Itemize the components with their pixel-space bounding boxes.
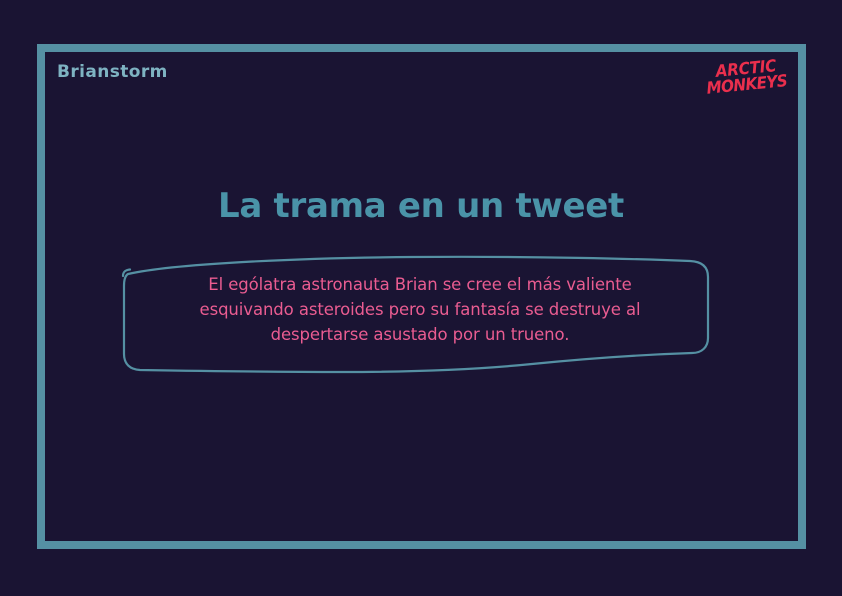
arctic-monkeys-logo: ARCTIC MONKEYS bbox=[703, 58, 789, 104]
quote-line: esquivando asteroides pero su fantasía s… bbox=[140, 297, 700, 322]
page-title: Brianstorm bbox=[57, 62, 168, 82]
quote-line: despertarse asustado por un trueno. bbox=[140, 322, 700, 347]
quote-text: El ególatra astronauta Brian se cree el … bbox=[140, 272, 700, 347]
logo-line-monkeys: MONKEYS bbox=[706, 73, 786, 97]
section-heading: La trama en un tweet bbox=[0, 186, 842, 226]
slide-canvas: Brianstorm ARCTIC MONKEYS La trama en un… bbox=[0, 0, 842, 596]
quote-line: El ególatra astronauta Brian se cree el … bbox=[140, 272, 700, 297]
